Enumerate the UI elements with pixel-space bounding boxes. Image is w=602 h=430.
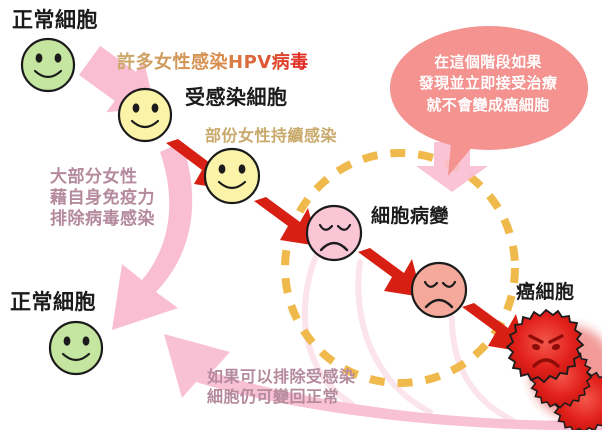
- normal-cell-bottom: [50, 322, 102, 374]
- label-some-women-persist: 部份女性持續感染: [205, 127, 337, 146]
- label-normal-cell-top: 正常細胞: [12, 8, 98, 33]
- callout-line-2: 發現並立即接受治療: [396, 73, 580, 94]
- label-many-women-hpv: 許多女性感染HPV病毒: [117, 52, 309, 73]
- revert-line-2: 細胞仍可變回正常: [207, 388, 356, 407]
- dysplasia-highlight-circle: [285, 153, 515, 383]
- callout-text: 在這個階段如果 發現並立即接受治療 就不會變成癌細胞: [396, 52, 580, 116]
- immune-line-3: 排除病毒感染: [50, 209, 155, 229]
- dysplasia-cell: [307, 206, 361, 260]
- label-infected-cell: 受感染細胞: [185, 86, 288, 110]
- hpv-progression-diagram: 正常細胞 受感染細胞 細胞病變 癌細胞 正常細胞 許多女性感染HPV病毒 部份女…: [0, 0, 602, 430]
- callout-line-1: 在這個階段如果: [396, 52, 580, 73]
- label-immune-clearance: 大部分女性 藉自身免疫力 排除病毒感染: [50, 167, 155, 230]
- cancer-cell-cluster: [507, 310, 602, 430]
- revert-line-1: 如果可以排除受感染: [207, 368, 356, 387]
- label-revert-normal: 如果可以排除受感染 細胞仍可變回正常: [207, 368, 356, 408]
- label-cancer-cell: 癌細胞: [516, 281, 575, 303]
- advanced-cell: [412, 263, 466, 317]
- normal-cell-top: [22, 39, 74, 91]
- immune-line-2: 藉自身免疫力: [50, 188, 155, 208]
- infected-cell-lower: [205, 149, 259, 203]
- infected-cell-upper: [119, 89, 171, 141]
- immune-line-1: 大部分女性: [50, 167, 155, 187]
- label-normal-cell-bottom: 正常細胞: [10, 290, 96, 315]
- callout-line-3: 就不會變成癌細胞: [396, 95, 580, 116]
- label-dysplasia: 細胞病變: [371, 205, 449, 227]
